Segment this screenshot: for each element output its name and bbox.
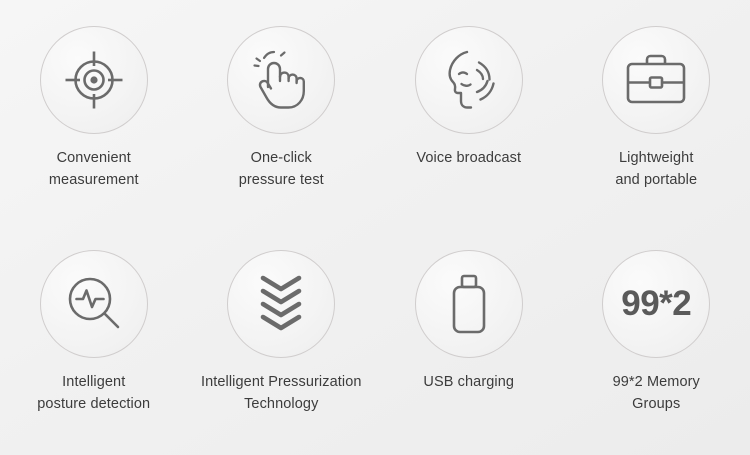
feature-label: Lightweight and portable [615,147,697,192]
feature-label: 99*2 Memory Groups [613,371,700,416]
speaking-face-voice-icon [437,48,501,112]
icon-badge [40,250,148,358]
memory-groups-text-icon: 99*2 [621,284,691,324]
feature-item-lightweight-and-portable: Lightweight and portable [563,0,750,228]
feature-label-line1: USB charging [423,371,514,393]
feature-label-line1: 99*2 Memory [613,371,700,393]
briefcase-icon [624,51,688,109]
feature-grid: Convenient measurement [0,0,750,455]
feature-label: Intelligent posture detection [37,371,150,416]
feature-label-line2: Groups [613,393,700,415]
feature-item-convenient-measurement: Convenient measurement [0,0,188,228]
feature-item-usb-charging: USB charging [375,228,563,455]
feature-item-intelligent-posture-detection: Intelligent posture detection [0,228,188,455]
feature-label: One-click pressure test [239,147,324,192]
feature-label-line1: Intelligent [37,371,150,393]
feature-label: Convenient measurement [49,147,139,192]
crosshair-target-icon [63,49,125,111]
icon-badge [602,26,710,134]
magnifier-pulse-icon [63,273,125,335]
feature-item-memory-groups: 99*2 99*2 Memory Groups [563,228,750,455]
feature-label: USB charging [423,371,514,393]
feature-label-line1: Intelligent Pressurization [201,371,362,393]
feature-label-line1: Voice broadcast [416,147,521,169]
feature-label-line1: Convenient [49,147,139,169]
icon-badge [415,250,523,358]
feature-label-line2: Technology [201,393,362,415]
feature-label: Voice broadcast [416,147,521,169]
icon-badge [415,26,523,134]
icon-badge [227,26,335,134]
feature-label-line2: and portable [615,169,697,191]
feature-item-intelligent-pressurization-technology: Intelligent Pressurization Technology [188,228,376,455]
feature-label-line2: pressure test [239,169,324,191]
feature-label-line1: Lightweight [615,147,697,169]
feature-label-line2: measurement [49,169,139,191]
feature-item-voice-broadcast: Voice broadcast [375,0,563,228]
feature-label-line2: posture detection [37,393,150,415]
icon-badge: 99*2 [602,250,710,358]
feature-grid-infographic: Convenient measurement [0,0,750,455]
feature-label: Intelligent Pressurization Technology [201,371,362,416]
feature-label-line1: One-click [239,147,324,169]
hand-tap-finger-icon [250,47,312,113]
icon-badge [227,250,335,358]
usb-plug-icon [448,272,490,336]
stacked-chevrons-down-icon [256,272,306,336]
icon-badge [40,26,148,134]
feature-item-one-click-pressure-test: One-click pressure test [188,0,376,228]
